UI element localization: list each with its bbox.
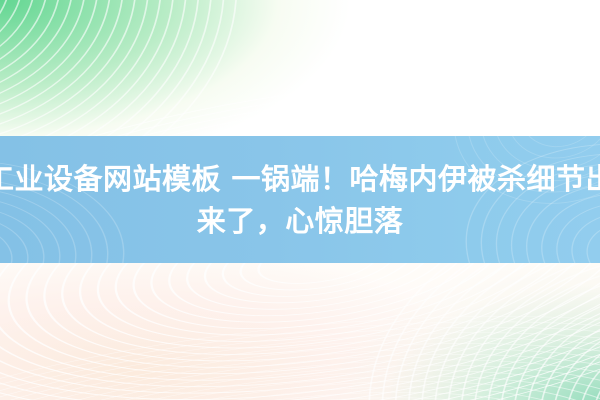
headline-text: 工业设备网站模板 一锅端！哈梅内伊被杀细节出 来了，心惊胆落	[0, 136, 600, 263]
headline-band: 工业设备网站模板 一锅端！哈梅内伊被杀细节出 来了，心惊胆落	[0, 136, 600, 263]
headline-line-2: 来了，心惊胆落	[197, 200, 404, 242]
promo-banner: 工业设备网站模板 一锅端！哈梅内伊被杀细节出 来了，心惊胆落	[0, 0, 600, 400]
headline-line-1: 工业设备网站模板 一锅端！哈梅内伊被杀细节出	[0, 158, 600, 200]
